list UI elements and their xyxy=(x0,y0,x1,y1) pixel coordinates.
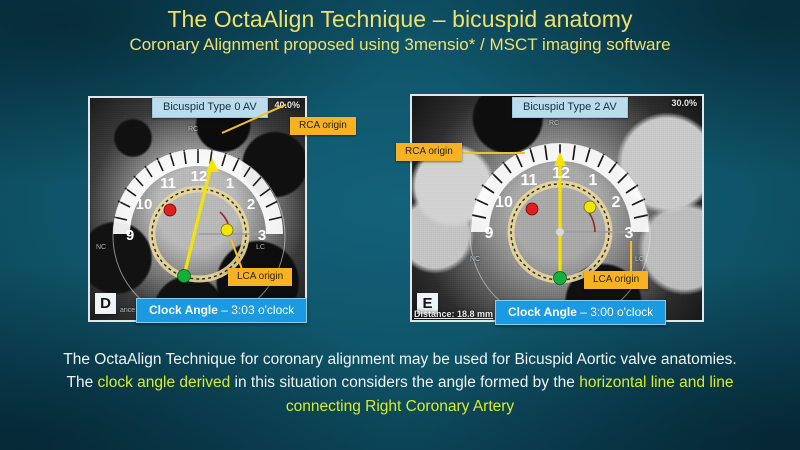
dial-number-2-e: 2 xyxy=(612,194,621,211)
dial-number-9-d: 9 xyxy=(126,227,134,244)
type-label-e: Bicuspid Type 2 AV xyxy=(512,97,628,118)
dial-number-9-e: 9 xyxy=(485,225,494,242)
clock-dial-d: 9 10 11 12 1 2 3 xyxy=(88,114,307,319)
cusp-label-lc-d: LC xyxy=(256,244,265,251)
ct-panel-e[interactable]: 9 10 11 12 1 2 3 RC NC LC 30.0% E Distan… xyxy=(410,94,704,322)
clock-angle-value-d: – 3:03 o'clock xyxy=(221,303,294,317)
percent-readout-e: 30.0% xyxy=(671,98,697,108)
clock-angle-label-d: Clock Angle xyxy=(149,303,218,317)
rca-leader-e xyxy=(459,152,525,154)
rca-callout-e[interactable]: RCA origin xyxy=(396,143,462,161)
cusp-label-lc-e: LC xyxy=(635,256,644,263)
slide-caption: The OctaAlign Technique for coronary ali… xyxy=(62,348,738,418)
dial-number-3-d: 3 xyxy=(258,227,266,244)
dial-number-3-e: 3 xyxy=(625,225,634,242)
dial-number-1-d: 1 xyxy=(226,175,234,192)
clock-angle-value-e: – 3:00 o'clock xyxy=(580,305,653,319)
dial-number-12-d: 12 xyxy=(191,168,208,185)
rca-callout-d[interactable]: RCA origin xyxy=(290,117,356,135)
dial-number-11-d: 11 xyxy=(160,175,176,192)
distance-readout-e: Distance: 18.8 mm xyxy=(414,309,493,319)
dial-number-1-e: 1 xyxy=(589,172,598,189)
slide: The OctaAlign Technique – bicuspid anato… xyxy=(0,0,800,450)
dial-number-10-e: 10 xyxy=(495,194,513,211)
ct-panel-d[interactable]: 9 10 11 12 1 2 3 RC NC LC 40.0% D ance: … xyxy=(88,96,307,322)
lca-callout-e[interactable]: LCA origin xyxy=(584,271,648,289)
caption-part-2: in this situation considers the angle fo… xyxy=(230,374,579,391)
cusp-label-rc-e: RC xyxy=(549,120,559,127)
caption-highlight-1: clock angle derived xyxy=(98,374,231,391)
lca-callout-d[interactable]: LCA origin xyxy=(228,268,292,286)
clock-angle-badge-d: Clock Angle – 3:03 o'clock xyxy=(136,298,307,323)
dial-number-2-d: 2 xyxy=(247,196,255,213)
dial-number-11-e: 11 xyxy=(521,172,538,189)
clock-angle-label-e: Clock Angle xyxy=(508,305,577,319)
page-subtitle: Coronary Alignment proposed using 3mensi… xyxy=(0,35,800,55)
type-label-d: Bicuspid Type 0 AV xyxy=(152,97,268,118)
clock-angle-badge-e: Clock Angle – 3:00 o'clock xyxy=(495,300,666,325)
cusp-label-nc-d: NC xyxy=(96,244,106,251)
cusp-label-nc-e: NC xyxy=(470,256,480,263)
page-title: The OctaAlign Technique – bicuspid anato… xyxy=(0,6,800,33)
panel-letter-d: D xyxy=(95,293,116,314)
cusp-label-rc-d: RC xyxy=(188,126,198,133)
dial-number-12-e: 12 xyxy=(552,165,570,182)
dial-number-10-d: 10 xyxy=(136,196,153,213)
